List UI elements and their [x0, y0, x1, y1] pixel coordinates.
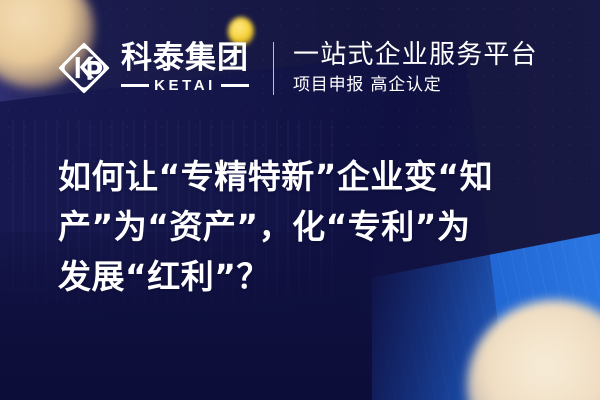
banner-header: 科泰集团 KETAI 一站式企业服务平台 项目申报 高企认定	[56, 40, 538, 96]
tagline-primary: 一站式企业服务平台	[293, 40, 538, 70]
wordmark-rule-left	[121, 84, 149, 87]
brand-name-en-row: KETAI	[121, 78, 249, 93]
headline-block: 如何让“专精特新”企业变“知 产”为“资产”，化“专利”为 发展“红利”？	[58, 152, 568, 302]
ketai-diamond-kp-logo-icon	[56, 40, 112, 96]
headline-line-3: 发展“红利”？	[58, 252, 568, 302]
promo-banner: 科泰集团 KETAI 一站式企业服务平台 项目申报 高企认定 如何让“专精特新”…	[0, 0, 600, 400]
brand-wordmark: 科泰集团 KETAI	[121, 43, 249, 93]
header-divider	[273, 42, 274, 95]
wordmark-rule-right	[221, 84, 249, 87]
headline-line-2: 产”为“资产”，化“专利”为	[58, 202, 568, 252]
tagline-secondary: 项目申报 高企认定	[293, 74, 538, 96]
headline-line-1: 如何让“专精特新”企业变“知	[58, 152, 568, 202]
brand-name-en: KETAI	[154, 78, 216, 93]
header-tagline: 一站式企业服务平台 项目申报 高企认定	[293, 40, 538, 96]
brand-name-cn: 科泰集团	[121, 43, 249, 75]
brand-logo[interactable]: 科泰集团 KETAI	[56, 40, 249, 96]
